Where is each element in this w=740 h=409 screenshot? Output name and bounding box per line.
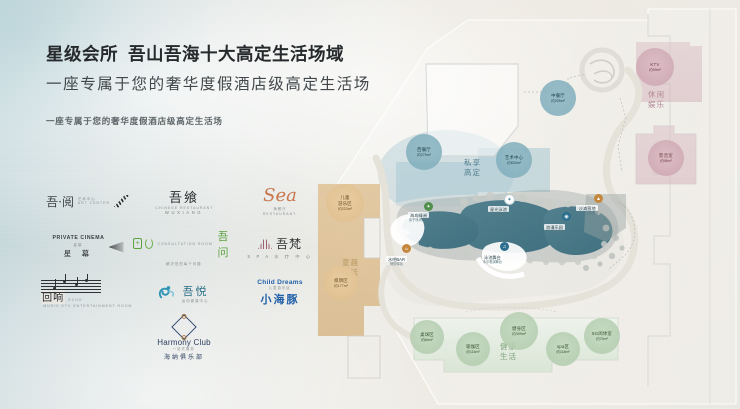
child-dreams-en: Child Dreams xyxy=(257,279,303,286)
facility-av-room-area: 约98m² xyxy=(660,159,672,163)
zone-private-custom: 私享 高定 xyxy=(464,158,481,178)
facility-ktv[interactable]: KTV 约99m² xyxy=(636,48,674,86)
zone-private-custom-line2: 高定 xyxy=(464,168,481,178)
wuwen-en: CONSULTATION ROOM xyxy=(158,242,213,246)
private-cinema-en: PRIVATE CINEMA xyxy=(52,235,104,243)
logo-row-4: Harmony Club 一站式服务 海纳俱乐部 xyxy=(40,316,328,362)
wave-figure-icon xyxy=(158,285,176,301)
facility-spa[interactable]: spa区 约118m² xyxy=(546,332,580,366)
facility-spa-name: spa区 xyxy=(557,344,569,350)
wufan-cn: 吾梵 xyxy=(276,235,302,252)
logo-child-dreams[interactable]: Child Dreams 儿童游乐区 小海豚 xyxy=(232,270,328,316)
diamond-emblem-icon xyxy=(171,314,196,339)
facility-art-center-name: 艺术中心 xyxy=(505,155,523,161)
page-title: 星级会所吾山吾海十大高定生活场域 xyxy=(46,44,346,66)
zone-health-line2: 生活 xyxy=(500,352,517,362)
facility-western-restaurant[interactable]: 西餐厅 约275m² xyxy=(406,134,442,170)
private-cinema-en-sub: 星幕 xyxy=(54,243,103,248)
facility-5g-room-area: 约75m² xyxy=(596,337,608,341)
pool-starlight-sub: 恒温泳池 xyxy=(488,213,509,217)
pool-island-oasis-sub: 亲子戏水乐园 xyxy=(408,219,429,223)
logo-row-1: 吾·阅 艺术中心 ART CENTER 吾飨 CHINESE RESTAURAN… xyxy=(40,178,328,224)
sea-en: RESTAURANT xyxy=(263,212,296,216)
pool-romantic-park[interactable]: 浪漫乐园 儿童戏水乐园 xyxy=(544,224,565,234)
private-cinema-cn: 星 幕 xyxy=(52,248,104,259)
facility-ktv-name: KTV xyxy=(650,62,659,68)
title-part-1: 星级会所 xyxy=(46,44,118,64)
wuwen-en-sub: 解决您的每个问题 xyxy=(166,262,202,267)
pool-water-bar-sub: 畅饮驿站 xyxy=(386,263,407,267)
page-subtitle: 一座专属于您的奢华度假酒店级高定生活场 xyxy=(46,75,346,95)
stethoscope-icon xyxy=(145,238,153,249)
facility-chinese-restaurant-name: 中餐厅 xyxy=(551,93,565,99)
logo-wuyue[interactable]: 吾悦 运动健康中心 xyxy=(136,270,232,316)
facility-yoga-area: 约115m² xyxy=(466,350,480,354)
zone-leisure-line2: 娱乐 xyxy=(648,100,665,110)
brush-stroke-icon xyxy=(114,195,130,208)
logo-row-2: PRIVATE CINEMA 星幕 星 幕 + CONSULTATION ROO… xyxy=(40,224,328,270)
facility-kids-playground[interactable]: 儿童 游乐区 约223m² xyxy=(326,184,364,222)
facility-chinese-restaurant-area: 约205m² xyxy=(551,99,565,103)
facility-table-tennis-area: 约84m² xyxy=(421,338,433,342)
facility-art-center-area: 约830m² xyxy=(507,161,521,165)
logo-huixiang[interactable]: 回响 ECHO MUSIC KTV ENTERTAINMENT ROOM xyxy=(40,270,136,316)
facility-kids-playground-name2: 游乐区 xyxy=(338,201,352,207)
facility-yoga-name: 瑜伽区 xyxy=(466,344,480,350)
sea-cn-sub: 海餐厅 xyxy=(273,207,286,212)
romantic-park-pin-icon[interactable]: ◉ xyxy=(562,212,571,221)
poster-canvas: 星级会所吾山吾海十大高定生活场域 一座专属于您的奢华度假酒店级高定生活场 一座专… xyxy=(0,0,740,409)
facility-table-tennis-name: 桌球区 xyxy=(420,332,434,338)
art-center-en: ART CENTER xyxy=(78,201,110,205)
wuxiang-en-sub: CHINESE RESTAURANT xyxy=(155,206,213,210)
logo-harmony-club[interactable]: Harmony Club 一站式服务 海纳俱乐部 xyxy=(40,316,328,362)
child-dreams-cn: 小海豚 xyxy=(260,291,299,307)
music-staff-icon xyxy=(41,278,101,295)
facility-art-center[interactable]: 艺术中心 约830m² xyxy=(496,142,532,178)
facility-spa-area: 约118m² xyxy=(556,350,570,354)
facility-av-room[interactable]: 影音室 约98m² xyxy=(648,140,684,176)
facility-gym[interactable]: 健身区 约399m² xyxy=(500,312,538,350)
headline-block: 星级会所吾山吾海十大高定生活场域 一座专属于您的奢华度假酒店级高定生活场 一座专… xyxy=(46,44,346,127)
facility-chess-card-room-area: 约177m² xyxy=(334,284,348,288)
pool-island-oasis[interactable]: 海岛绿洲 亲子戏水乐园 xyxy=(408,212,429,222)
spa-fountain-icon xyxy=(258,237,272,249)
logo-wufan[interactable]: 吾梵 S P A 水 疗 中 心 xyxy=(232,224,328,270)
pool-stage-sub: 水中唱演舞台 xyxy=(482,261,503,265)
title-part-2: 吾山吾海十大高定生活场域 xyxy=(128,44,344,64)
logo-wuwen[interactable]: + CONSULTATION ROOM 吾问 解决您的每个问题 xyxy=(136,224,232,270)
pool-stage-pin-icon[interactable]: ♫ xyxy=(500,242,509,251)
site-plan-map[interactable]: 私享 高定 休闲 娱乐 童趣 乐活 健康 生活 KTV 约99m² 影音室 约9… xyxy=(318,6,740,409)
facility-chinese-restaurant[interactable]: 中餐厅 约205m² xyxy=(540,80,576,116)
huixiang-en: ECHO xyxy=(69,298,83,302)
map-vector-layer xyxy=(318,6,740,409)
art-center-cn: 吾·阅 xyxy=(46,193,74,210)
beach-camp-pin-icon[interactable]: ▲ xyxy=(594,194,603,203)
pool-beach-camp[interactable]: 沙滩营地 沙滩星空露营区 xyxy=(576,205,598,215)
logo-wuxiang[interactable]: 吾飨 CHINESE RESTAURANT WUXIANG xyxy=(136,178,232,224)
zone-leisure-line1: 休闲 xyxy=(648,90,665,100)
logo-row-3: 回响 ECHO MUSIC KTV ENTERTAINMENT ROOM xyxy=(40,270,328,316)
projector-beam-icon xyxy=(109,242,124,253)
huixiang-en-sub: MUSIC KTV ENTERTAINMENT ROOM xyxy=(43,304,132,308)
harmony-club-cn: 海纳俱乐部 xyxy=(164,352,204,361)
logo-art-center[interactable]: 吾·阅 艺术中心 ART CENTER xyxy=(40,178,136,224)
harmony-club-en-sub: 一站式服务 xyxy=(173,347,195,352)
facility-av-room-name: 影音室 xyxy=(659,153,673,159)
wuyue-en-sub: 运动健康中心 xyxy=(182,299,209,304)
zone-leisure: 休闲 娱乐 xyxy=(648,90,665,110)
facility-chess-card-room-name: 棋牌区 xyxy=(334,278,348,284)
facility-ktv-area: 约99m² xyxy=(649,68,661,72)
facility-gym-name: 健身区 xyxy=(512,326,526,332)
facility-western-restaurant-area: 约275m² xyxy=(417,153,431,157)
pool-romantic-park-sub: 儿童戏水乐园 xyxy=(544,231,565,235)
water-bar-pin-icon[interactable]: ☕ xyxy=(402,244,411,253)
wuxiang-en: WUXIANG xyxy=(165,210,203,215)
brand-logo-grid: 吾·阅 艺术中心 ART CENTER 吾飨 CHINESE RESTAURAN… xyxy=(40,178,328,362)
zone-private-custom-line1: 私享 xyxy=(464,158,481,168)
medical-cross-icon: + xyxy=(133,238,141,249)
facility-5g-room[interactable]: 5G阅体室 约75m² xyxy=(584,318,620,354)
starlight-pool-pin-icon[interactable]: ✶ xyxy=(504,194,515,205)
facility-gym-area: 约399m² xyxy=(512,332,526,336)
sea-wordmark: Sea xyxy=(263,187,297,205)
wufan-en-sub: S P A 水 疗 中 心 xyxy=(247,254,312,260)
pool-water-bar[interactable]: 水吧BAR 畅饮驿站 xyxy=(386,256,407,266)
pool-beach-camp-sub: 沙滩星空露营区 xyxy=(576,212,598,216)
wuxiang-cn: 吾飨 xyxy=(169,187,199,206)
facility-table-tennis[interactable]: 桌球区 约84m² xyxy=(410,320,444,354)
facility-chess-card-room[interactable]: 棋牌区 约177m² xyxy=(324,266,358,300)
facility-yoga[interactable]: 瑜伽区 约115m² xyxy=(456,332,490,366)
facility-western-restaurant-name: 西餐厅 xyxy=(417,147,431,153)
logo-sea[interactable]: Sea 海餐厅 RESTAURANT xyxy=(232,178,328,224)
page-caption: 一座专属于您的奢华度假酒店级高定生活场 xyxy=(46,115,346,127)
child-dreams-en-sub: 儿童游乐区 xyxy=(269,286,291,291)
facility-kids-playground-area: 约223m² xyxy=(338,207,352,211)
logo-private-cinema[interactable]: PRIVATE CINEMA 星幕 星 幕 xyxy=(40,224,136,270)
wuyue-cn: 吾悦 xyxy=(182,283,208,299)
island-oasis-pin-icon[interactable]: ✦ xyxy=(424,202,433,211)
facility-5g-room-name: 5G阅体室 xyxy=(592,331,612,337)
pool-stage[interactable]: 泳池舞台 水中唱演舞台 xyxy=(482,254,503,264)
pool-starlight[interactable]: 星光泳池 恒温泳池 xyxy=(488,206,509,216)
